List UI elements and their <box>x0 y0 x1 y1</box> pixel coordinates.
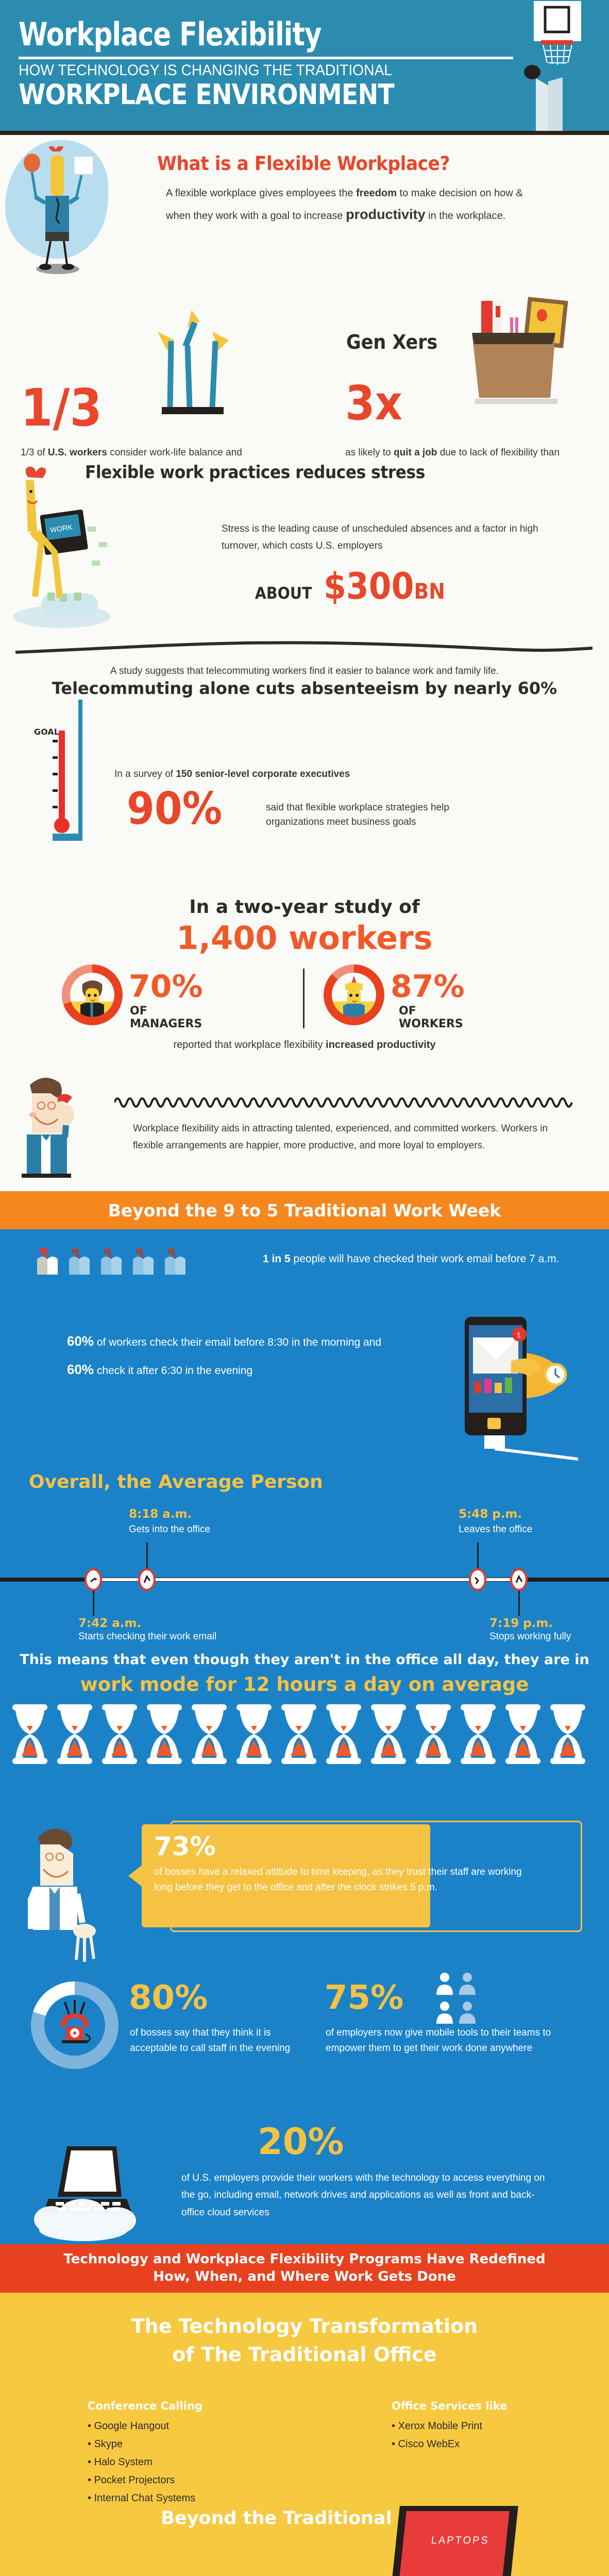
page-title: Workplace Flexibility <box>19 15 322 53</box>
about-label: ABOUT <box>255 584 312 603</box>
percent-donuts: 70% OF MANAGERS <box>0 964 609 1031</box>
timeline-stem-3 <box>477 1543 479 1568</box>
yellow-heading-line-1: The Technology Transformation <box>0 2312 609 2341</box>
list-item: Cisco WebEx <box>392 2435 507 2453</box>
workers-percent: 87% <box>391 969 465 1005</box>
yellow-heading: The Technology Transformation of The Tra… <box>0 2293 609 2369</box>
mailbox-icon <box>164 1248 189 1277</box>
callout-73-text: of bosses have a relaxed attitude to tim… <box>154 1865 535 1896</box>
survey-line: In a survey of 150 senior-level corporat… <box>114 769 350 780</box>
moving-box-illustration <box>464 295 593 416</box>
worker-avatar <box>332 973 376 1017</box>
goal-label: GOAL <box>34 727 59 737</box>
yellow-heading-line-2: of The Traditional Office <box>0 2341 609 2369</box>
genx-label: Gen Xers <box>346 331 437 353</box>
office-services-title: Office Services like <box>392 2400 507 2412</box>
timeline-time-1: 7:42 a.m. <box>78 1617 141 1630</box>
hourglass-icon <box>413 1703 454 1765</box>
list-item: Pocket Projectors <box>88 2471 202 2489</box>
section-1400-workers: In a two-year study of 1,400 workers <box>0 892 609 1062</box>
intro-heading: What is a Flexible Workplace? <box>157 152 450 175</box>
office-services-list: Xerox Mobile Print Cisco WebEx <box>392 2417 507 2453</box>
workers-ring <box>324 964 384 1025</box>
banner-beyond-9to5: Beyond the 9 to 5 Traditional Work Week <box>0 1191 609 1229</box>
stat-75-text: of employers now give mobile tools to th… <box>326 2025 568 2057</box>
phone-donut-80 <box>31 1981 119 2069</box>
technology-lists: Conference Calling Google Hangout Skype … <box>0 2400 609 2503</box>
workers-donut: 87% OF WORKERS <box>324 964 385 1026</box>
hourglass-icon <box>233 1703 275 1765</box>
easel-illustration <box>134 310 252 429</box>
infographic-page: Workplace Flexibility HOW TECHNOLOGY IS … <box>0 0 609 2576</box>
stat-20-value: 20% <box>258 2121 344 2163</box>
stat-80-text: of bosses say that they think it is acce… <box>130 2025 295 2057</box>
genx-figure: 3x <box>345 382 402 425</box>
donut-divider <box>303 969 304 1028</box>
intro-body: A flexible workplace gives employees the… <box>166 184 542 227</box>
mailbox-icon <box>132 1248 157 1277</box>
list-item: Halo System <box>88 2453 202 2471</box>
callout-73-percent: 73% of bosses have a relaxed attitude to… <box>142 1824 430 1927</box>
hourglass-icon <box>323 1703 364 1765</box>
laptop-lid: LAPTOPS <box>392 2506 518 2576</box>
header-subtitle-2: WORKPLACE ENVIRONMENT <box>19 78 394 111</box>
banner-redefined-line-1: Technology and Workplace Flexibility Pro… <box>0 2251 609 2267</box>
daily-timeline: 7:42 a.m. Starts checking their work ema… <box>0 1507 609 1641</box>
hourglass-icon <box>368 1703 409 1765</box>
ninety-percent-description: said that flexible workplace strategies … <box>266 801 482 829</box>
header-subtitle-1: HOW TECHNOLOGY IS CHANGING THE TRADITION… <box>19 62 392 79</box>
list-item: Internal Chat Systems <box>88 2489 202 2507</box>
stress-heading: Flexible work practices reduces stress <box>85 462 425 483</box>
desk-illustration: PHONES TABLETS LAPTOPS <box>0 2529 609 2576</box>
timeline-desc-4: Stops working fully <box>489 1631 571 1642</box>
conference-calling-title: Conference Calling <box>88 2400 202 2412</box>
mailbox-icon <box>68 1248 93 1277</box>
header-rule <box>19 57 513 59</box>
hourglass-icon <box>278 1703 319 1765</box>
stat-20-text: of U.S. employers provide their workers … <box>181 2170 552 2221</box>
timeline-time-2: 8:18 a.m. <box>129 1507 192 1521</box>
overall-average-heading: Overall, the Average Person <box>29 1471 323 1493</box>
section-technology-transformation: The Technology Transformation of The Tra… <box>0 2293 609 2576</box>
hand-holding-phone-illustration: 1 <box>424 1317 578 1461</box>
hourglass-icon <box>458 1703 499 1765</box>
worker-avatar-icon <box>332 973 376 1017</box>
banner-beyond-title: Beyond the 9 to 5 Traditional Work Week <box>108 1200 501 1221</box>
workers-label: OF WORKERS <box>399 1005 463 1030</box>
hourglass-icon <box>144 1703 185 1765</box>
man-with-laptop-money-illustration: WORK <box>10 465 124 630</box>
managers-percent: 70% <box>129 969 203 1005</box>
basketball-hoop-icon <box>518 0 596 134</box>
section-ninety-percent: GOAL In a survey of 150 senior-level cor… <box>0 702 609 892</box>
timeline-time-3: 5:48 p.m. <box>459 1507 522 1521</box>
manager-avatar-icon <box>70 973 114 1017</box>
section-what-is-flexible-workplace: What is a Flexible Workplace? A flexible… <box>0 135 609 290</box>
section-stress: Flexible work practices reduces stress W… <box>0 460 609 702</box>
timeline-stem-2 <box>146 1543 148 1568</box>
laptop-label: LAPTOPS <box>431 2535 490 2547</box>
hourglass-icon <box>54 1703 95 1765</box>
managers-avatar <box>70 973 114 1017</box>
hourglass-icon <box>502 1703 544 1765</box>
mailbox-row <box>36 1248 189 1277</box>
hourglass-row <box>9 1703 588 1765</box>
stress-cost-figure: ABOUT $300BN <box>252 565 452 607</box>
managers-ring <box>62 964 123 1025</box>
banner-redefined-line-2: How, When, and Where Work Gets Done <box>0 2269 609 2284</box>
mailbox-icon <box>100 1248 125 1277</box>
conference-calling-column: Conference Calling Google Hangout Skype … <box>88 2400 202 2507</box>
laptop-device: LAPTOPS <box>375 2506 530 2576</box>
one-third-figure: 1/3 <box>21 385 102 431</box>
callout-73-value: 73% <box>154 1834 418 1859</box>
timeline-stem-4 <box>518 1591 520 1616</box>
wavy-divider <box>15 641 593 656</box>
timeline-time-4: 7:19 p.m. <box>489 1617 553 1630</box>
people-icons <box>435 1971 497 2028</box>
attract-body: Workplace flexibility aids in attracting… <box>133 1120 571 1155</box>
managers-donut: 70% OF MANAGERS <box>62 964 124 1026</box>
telephone-icon <box>44 1995 105 2056</box>
boss-illustration <box>21 1822 119 1971</box>
stat-80-value: 80% <box>129 1979 208 2017</box>
stress-body: Stress is the leading cause of unschedul… <box>222 520 541 555</box>
hourglass-icon <box>547 1703 588 1765</box>
sixty-percent-stat: 60% of workers check their email before … <box>67 1327 397 1383</box>
section-one-third-genx: 1/3 1/3 of U.S. workers consider work-li… <box>0 290 609 460</box>
hourglass-icon <box>9 1703 50 1765</box>
man-on-phone-illustration <box>14 1072 112 1185</box>
study-line: A study suggests that telecommuting work… <box>0 666 609 677</box>
one-in-five-stat: 1 in 5 people will have checked their wo… <box>263 1251 567 1267</box>
donut-80-inner <box>44 1995 105 2056</box>
work-mode-headline: work mode for 12 hours a day on average <box>0 1673 609 1696</box>
timeline-node-3 <box>469 1568 486 1591</box>
laptop-on-cloud-illustration <box>26 2141 155 2244</box>
list-item: Google Hangout <box>88 2417 202 2435</box>
cost-amount: $300BN <box>324 565 445 607</box>
hourglass-icon <box>99 1703 140 1765</box>
timeline-node-2 <box>138 1568 156 1591</box>
timeline-stem-1 <box>93 1591 94 1616</box>
timeline-node-4 <box>510 1568 528 1591</box>
conference-calling-list: Google Hangout Skype Halo System Pocket … <box>88 2417 202 2507</box>
ninety-percent-figure: 90% <box>127 783 222 835</box>
hourglass-icon <box>189 1703 230 1765</box>
productivity-line: reported that workplace flexibility incr… <box>0 1039 609 1051</box>
study-line-1: In a two-year study of <box>0 896 609 918</box>
study-line-2: 1,400 workers <box>0 919 609 957</box>
section-beyond-work-week: 1 in 5 people will have checked their wo… <box>0 1229 609 2244</box>
cheering-man-illustration <box>21 146 98 275</box>
mailbox-icon <box>36 1248 61 1277</box>
svg-text:1: 1 <box>517 1331 521 1339</box>
timeline-desc-3: Leaves the office <box>459 1524 532 1535</box>
section-attracting-talent: Workplace flexibility aids in attracting… <box>0 1062 609 1191</box>
office-services-column: Office Services like Xerox Mobile Print … <box>392 2400 507 2453</box>
list-item: Xerox Mobile Print <box>392 2417 507 2435</box>
timeline-node-1 <box>84 1568 102 1591</box>
timeline-desc-2: Gets into the office <box>129 1524 210 1535</box>
header-banner: Workplace Flexibility HOW TECHNOLOGY IS … <box>0 0 609 135</box>
banner-redefined: Technology and Workplace Flexibility Pro… <box>0 2244 609 2293</box>
list-item: Skype <box>88 2435 202 2453</box>
timeline-desc-1: Starts checking their work email <box>78 1631 216 1642</box>
stat-75-value: 75% <box>325 1979 403 2017</box>
thermometer-illustration: GOAL <box>32 690 99 860</box>
managers-label: OF MANAGERS <box>130 1005 202 1030</box>
phone-cord <box>114 1091 588 1112</box>
work-mode-intro: This means that even though they aren't … <box>0 1652 609 1668</box>
